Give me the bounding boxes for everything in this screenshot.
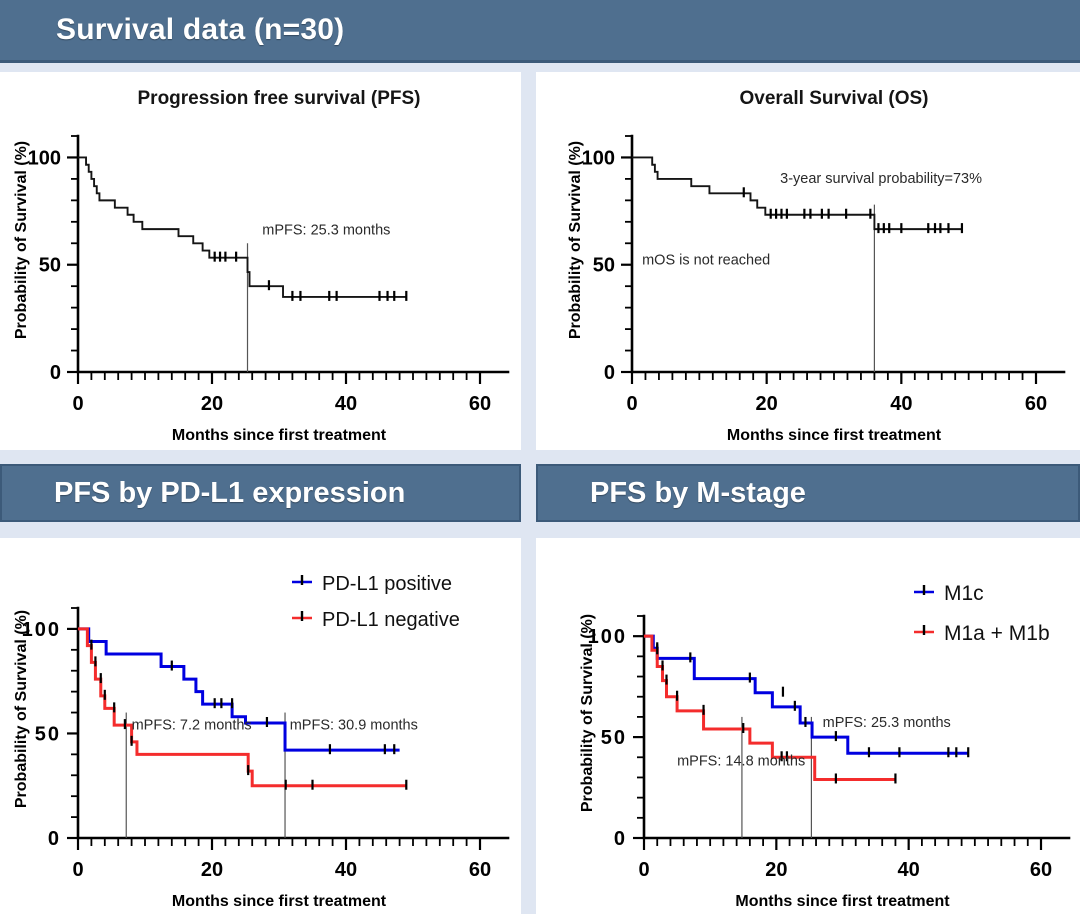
panel-header-pdl1-label: PFS by PD-L1 expression bbox=[2, 477, 405, 510]
svg-text:Overall Survival (OS): Overall Survival (OS) bbox=[739, 88, 928, 109]
svg-text:0: 0 bbox=[614, 828, 627, 850]
svg-text:20: 20 bbox=[201, 393, 223, 415]
page-title: Survival data (n=30) bbox=[0, 13, 344, 47]
svg-text:Probability of Survival (%): Probability of Survival (%) bbox=[567, 141, 584, 339]
svg-text:60: 60 bbox=[1025, 393, 1047, 415]
svg-text:mPFS: 7.2 months: mPFS: 7.2 months bbox=[132, 717, 252, 733]
svg-text:3-year survival probability=73: 3-year survival probability=73% bbox=[780, 171, 982, 187]
panel-header-pdl1: PFS by PD-L1 expression bbox=[0, 464, 521, 522]
slide-title-bar: Survival data (n=30) bbox=[0, 0, 1080, 63]
svg-text:50: 50 bbox=[593, 255, 615, 277]
svg-text:mOS is not reached: mOS is not reached bbox=[642, 253, 770, 269]
svg-text:20: 20 bbox=[765, 859, 787, 881]
svg-text:60: 60 bbox=[469, 859, 491, 881]
panel-header-mstage-label: PFS by M-stage bbox=[538, 477, 806, 510]
svg-text:40: 40 bbox=[335, 859, 357, 881]
legend-label: M1c bbox=[944, 582, 984, 605]
svg-text:Months since first treatment: Months since first treatment bbox=[727, 427, 942, 444]
svg-text:mPFS: 14.8 months: mPFS: 14.8 months bbox=[677, 753, 805, 769]
svg-text:mPFS: 25.3 months: mPFS: 25.3 months bbox=[823, 715, 951, 731]
svg-text:Probability of Survival (%): Probability of Survival (%) bbox=[13, 141, 30, 339]
svg-text:20: 20 bbox=[201, 859, 223, 881]
legend-label: PD-L1 positive bbox=[322, 573, 452, 595]
chart-panel-mstage: 0501000204060Months since first treatmen… bbox=[536, 538, 1080, 914]
slide-root: Survival data (n=30) Progression free su… bbox=[0, 0, 1080, 914]
svg-text:100: 100 bbox=[28, 147, 61, 169]
svg-text:mPFS: 30.9 months: mPFS: 30.9 months bbox=[290, 717, 418, 733]
svg-text:0: 0 bbox=[48, 828, 61, 850]
km-plot-mstage: 0501000204060Months since first treatmen… bbox=[536, 538, 1080, 914]
km-plot-pdl1: 0501000204060Months since first treatmen… bbox=[0, 538, 521, 914]
svg-text:mPFS: 25.3 months: mPFS: 25.3 months bbox=[262, 223, 390, 239]
svg-text:0: 0 bbox=[72, 859, 83, 881]
svg-text:0: 0 bbox=[626, 393, 637, 415]
svg-text:Months since first treatment: Months since first treatment bbox=[172, 893, 387, 910]
svg-text:40: 40 bbox=[890, 393, 912, 415]
svg-text:0: 0 bbox=[604, 362, 615, 384]
svg-text:100: 100 bbox=[582, 147, 615, 169]
legend-label: PD-L1 negative bbox=[322, 609, 460, 631]
svg-text:0: 0 bbox=[72, 393, 83, 415]
km-plot-os: Overall Survival (OS)0501000204060Months… bbox=[536, 72, 1080, 450]
svg-text:60: 60 bbox=[1030, 859, 1052, 881]
svg-text:0: 0 bbox=[50, 362, 61, 384]
svg-text:Progression free survival (PFS: Progression free survival (PFS) bbox=[138, 88, 421, 109]
svg-text:50: 50 bbox=[39, 255, 61, 277]
svg-text:50: 50 bbox=[601, 727, 627, 749]
svg-text:50: 50 bbox=[35, 723, 61, 745]
svg-text:20: 20 bbox=[756, 393, 778, 415]
svg-text:Probability of Survival (%): Probability of Survival (%) bbox=[579, 614, 596, 812]
km-plot-pfs: Progression free survival (PFS)050100020… bbox=[0, 72, 521, 450]
svg-text:40: 40 bbox=[898, 859, 920, 881]
panel-header-mstage: PFS by M-stage bbox=[536, 464, 1080, 522]
chart-panel-os: Overall Survival (OS)0501000204060Months… bbox=[536, 72, 1080, 450]
svg-text:Months since first treatment: Months since first treatment bbox=[172, 427, 387, 444]
svg-text:40: 40 bbox=[335, 393, 357, 415]
chart-panel-pdl1: 0501000204060Months since first treatmen… bbox=[0, 538, 521, 914]
legend-label: M1a + M1b bbox=[944, 622, 1050, 645]
svg-text:0: 0 bbox=[638, 859, 649, 881]
chart-panel-pfs: Progression free survival (PFS)050100020… bbox=[0, 72, 521, 450]
svg-text:Months since first treatment: Months since first treatment bbox=[735, 893, 950, 910]
svg-text:Probability of Survival (%): Probability of Survival (%) bbox=[13, 610, 30, 808]
svg-text:60: 60 bbox=[469, 393, 491, 415]
